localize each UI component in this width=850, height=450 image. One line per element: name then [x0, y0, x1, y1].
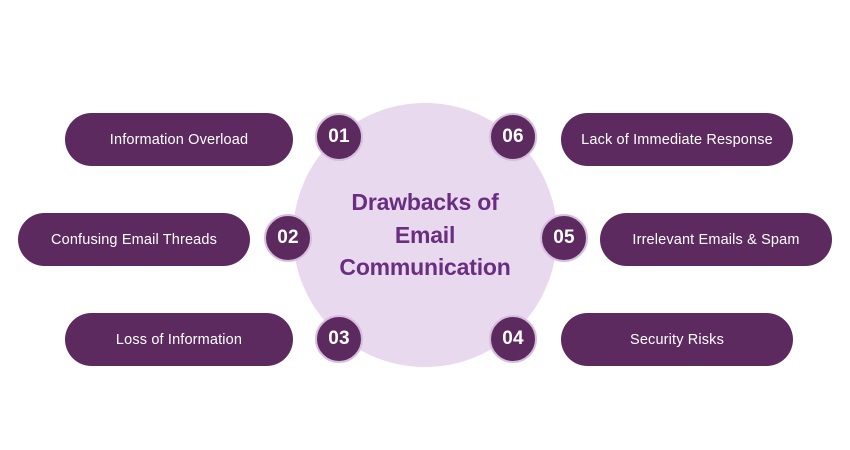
center-title-line-1: Drawbacks of: [351, 186, 498, 219]
center-title-line-3: Communication: [339, 251, 510, 284]
item-pill-lack-of-immediate-response[interactable]: Lack of Immediate Response: [561, 113, 793, 166]
item-pill-confusing-email-threads[interactable]: Confusing Email Threads: [18, 213, 250, 266]
item-badge-01[interactable]: 01: [315, 113, 363, 161]
item-badge-04[interactable]: 04: [489, 315, 537, 363]
item-pill-security-risks[interactable]: Security Risks: [561, 313, 793, 366]
item-badge-06[interactable]: 06: [489, 113, 537, 161]
item-pill-irrelevant-emails-and-spam[interactable]: Irrelevant Emails & Spam: [600, 213, 832, 266]
item-badge-02[interactable]: 02: [264, 214, 312, 262]
item-badge-03[interactable]: 03: [315, 315, 363, 363]
item-pill-information-overload[interactable]: Information Overload: [65, 113, 293, 166]
item-badge-05[interactable]: 05: [540, 214, 588, 262]
center-title-line-2: Email: [395, 219, 455, 252]
drawbacks-infographic: Drawbacks of Email Communication Informa…: [0, 0, 850, 450]
item-pill-loss-of-information[interactable]: Loss of Information: [65, 313, 293, 366]
